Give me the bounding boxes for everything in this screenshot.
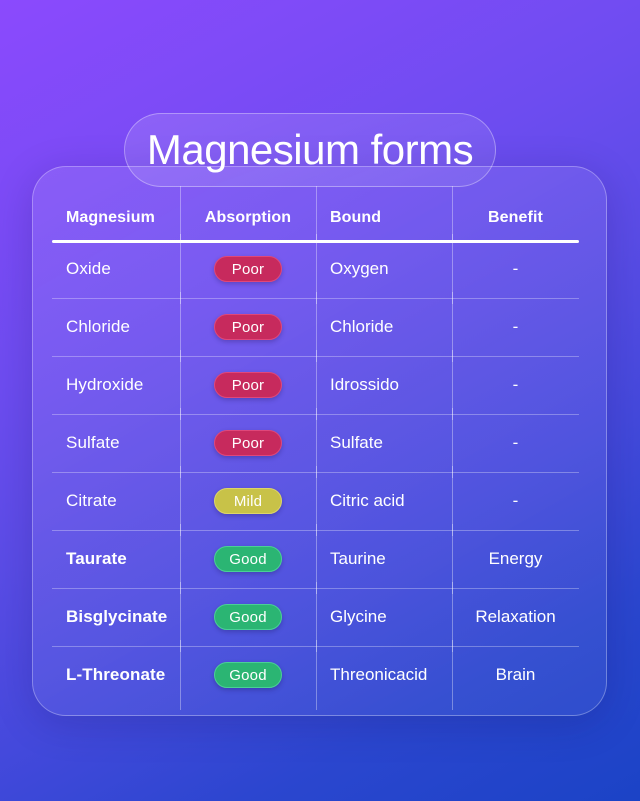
title-pill: Magnesium forms xyxy=(124,113,496,187)
cell-absorption: Poor xyxy=(180,414,316,472)
absorption-badge: Poor xyxy=(214,256,282,282)
table-row: L-ThreonateGoodThreonicacidBrain xyxy=(52,646,579,704)
absorption-badge: Good xyxy=(214,604,282,630)
cell-magnesium-name: Oxide xyxy=(52,240,180,298)
cell-magnesium-name: Hydroxide xyxy=(52,356,180,414)
cell-bound: Sulfate xyxy=(316,414,452,472)
cell-benefit: - xyxy=(452,298,579,356)
absorption-badge: Mild xyxy=(214,488,282,514)
table-row: SulfatePoorSulfate- xyxy=(52,414,579,472)
cell-benefit: - xyxy=(452,356,579,414)
cell-bound: Glycine xyxy=(316,588,452,646)
cell-magnesium-name: L-Threonate xyxy=(52,646,180,704)
poster-root: Magnesium forms Magnesium Absorption Bou… xyxy=(0,0,640,801)
cell-bound: Chloride xyxy=(316,298,452,356)
cell-benefit: Relaxation xyxy=(452,588,579,646)
cell-absorption: Poor xyxy=(180,240,316,298)
cell-magnesium-name: Sulfate xyxy=(52,414,180,472)
cell-bound: Idrossido xyxy=(316,356,452,414)
table-row: ChloridePoorChloride- xyxy=(52,298,579,356)
absorption-badge: Poor xyxy=(214,314,282,340)
column-header-benefit: Benefit xyxy=(452,196,579,240)
cell-magnesium-name: Citrate xyxy=(52,472,180,530)
cell-absorption: Poor xyxy=(180,356,316,414)
cell-benefit: - xyxy=(452,472,579,530)
absorption-badge: Good xyxy=(214,662,282,688)
absorption-badge: Poor xyxy=(214,372,282,398)
cell-bound: Taurine xyxy=(316,530,452,588)
cell-magnesium-name: Chloride xyxy=(52,298,180,356)
table-row: TaurateGoodTaurineEnergy xyxy=(52,530,579,588)
table-row: HydroxidePoorIdrossido- xyxy=(52,356,579,414)
column-header-absorption: Absorption xyxy=(180,196,316,240)
column-header-bound: Bound xyxy=(316,196,452,240)
cell-bound: Citric acid xyxy=(316,472,452,530)
cell-magnesium-name: Taurate xyxy=(52,530,180,588)
cell-absorption: Good xyxy=(180,588,316,646)
cell-benefit: Brain xyxy=(452,646,579,704)
cell-magnesium-name: Bisglycinate xyxy=(52,588,180,646)
table-body: OxidePoorOxygen-ChloridePoorChloride-Hyd… xyxy=(52,240,579,704)
absorption-badge: Good xyxy=(214,546,282,572)
cell-benefit: - xyxy=(452,240,579,298)
cell-bound: Oxygen xyxy=(316,240,452,298)
absorption-badge: Poor xyxy=(214,430,282,456)
cell-benefit: Energy xyxy=(452,530,579,588)
cell-absorption: Good xyxy=(180,530,316,588)
cell-absorption: Poor xyxy=(180,298,316,356)
cell-bound: Threonicacid xyxy=(316,646,452,704)
cell-benefit: - xyxy=(452,414,579,472)
page-title: Magnesium forms xyxy=(147,129,473,171)
column-header-magnesium: Magnesium xyxy=(52,196,180,240)
cell-absorption: Good xyxy=(180,646,316,704)
table-row: CitrateMildCitric acid- xyxy=(52,472,579,530)
table-row: OxidePoorOxygen- xyxy=(52,240,579,298)
table-row: BisglycinateGoodGlycineRelaxation xyxy=(52,588,579,646)
magnesium-forms-table: Magnesium Absorption Bound Benefit Oxide… xyxy=(52,196,579,704)
cell-absorption: Mild xyxy=(180,472,316,530)
